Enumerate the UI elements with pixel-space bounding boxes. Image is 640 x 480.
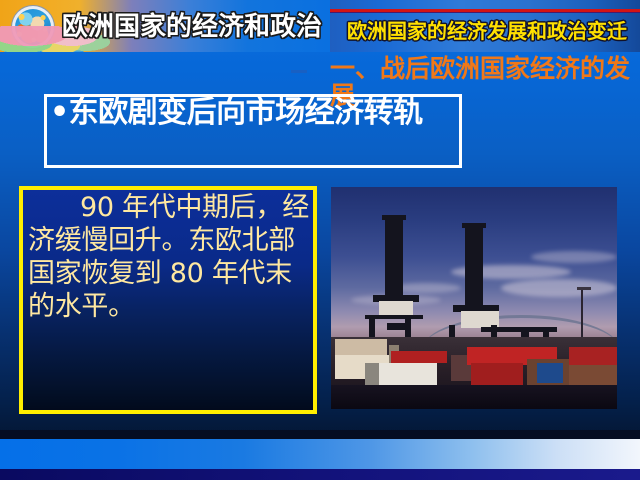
photo-foreground-shadow <box>331 385 617 409</box>
photo-container <box>569 347 617 365</box>
heading-dash-mark <box>291 70 307 73</box>
photo-truck-cab <box>365 363 379 385</box>
photo-cloud <box>351 295 441 305</box>
header-divider-line-shadow <box>330 12 640 13</box>
photo-light-mast <box>581 287 583 343</box>
photo-container <box>471 363 523 385</box>
photo-cloud <box>391 283 461 293</box>
photo-container <box>537 363 563 383</box>
slide-header: 欧洲国家的经济和政治 欧洲国家的经济发展和政治变迁 <box>0 0 640 52</box>
photo-cloud <box>501 279 617 297</box>
photo-cloud <box>451 265 571 279</box>
photo-container <box>569 365 617 385</box>
footer-dark-strip <box>0 430 640 439</box>
photo-light-mast-head <box>577 287 591 290</box>
globe-icon <box>12 6 54 48</box>
header-title-right: 欧洲国家的经济发展和政治变迁 <box>336 15 638 44</box>
header-title-left: 欧洲国家的经济和政治 <box>62 6 322 43</box>
photo-sky <box>331 187 617 339</box>
section-heading-line-1: 一、战后欧洲国家经济的发 <box>330 55 635 82</box>
globe-dots <box>15 9 51 45</box>
container-port-photo <box>331 187 617 409</box>
title-box-text: •东欧剧变后向市场经济转轨 <box>50 96 470 130</box>
photo-cloud <box>531 251 617 263</box>
presentation-slide: 欧洲国家的经济和政治 欧洲国家的经济发展和政治变迁 一、战后欧洲国家经济的发 展… <box>0 0 640 480</box>
photo-container <box>391 351 447 363</box>
footer-navy-strip <box>0 469 640 480</box>
body-box-text: 90 年代中期后，经济缓慢回升。东欧北部国家恢复到 80 年代末的水平。 <box>28 192 312 324</box>
footer-gradient-band <box>0 439 640 469</box>
